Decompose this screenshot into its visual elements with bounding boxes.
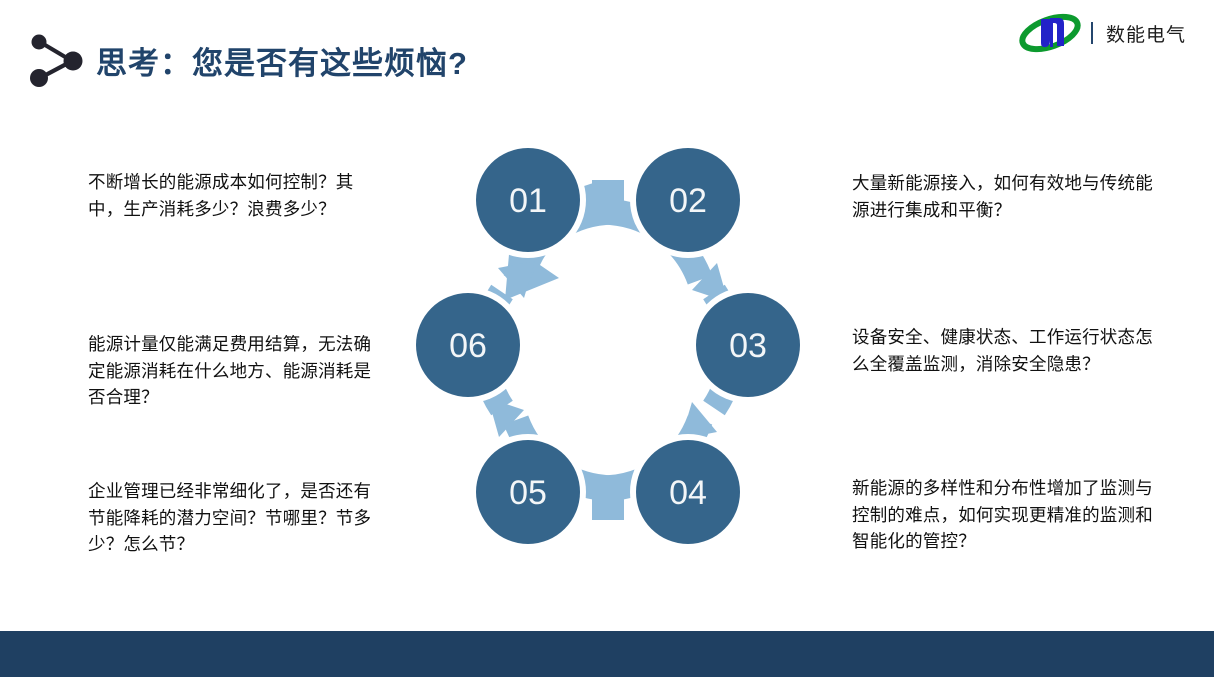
brand-divider (1091, 22, 1093, 44)
brand: 数能电气 (1019, 12, 1186, 54)
page-title: 思考：您是否有这些烦恼? (96, 38, 468, 83)
cycle-node-02-label: 02 (669, 182, 707, 220)
cycle-node-04-label: 04 (669, 474, 707, 512)
callout-02: 大量新能源接入，如何有效地与传统能源进行集成和平衡？ (852, 170, 1157, 223)
cycle-node-05-label: 05 (509, 474, 547, 512)
footer-bar (0, 631, 1214, 677)
callout-01: 不断增长的能源成本如何控制？其中，生产消耗多少？浪费多少？ (88, 169, 388, 222)
cycle-diagram: 01 02 03 04 05 06 (398, 140, 818, 560)
cycle-node-03[interactable]: 03 (696, 293, 800, 397)
cycle-node-01[interactable]: 01 (476, 148, 580, 252)
cycle-node-06[interactable]: 06 (416, 293, 520, 397)
share-nodes-icon (26, 32, 92, 88)
callout-06: 能源计量仅能满足费用结算，无法确定能源消耗在什么地方、能源消耗是否合理？ (88, 331, 388, 411)
slide-header: 思考：您是否有这些烦恼? 数能电气 (0, 0, 1214, 110)
company-logo-icon (1019, 13, 1081, 53)
cycle-node-06-label: 06 (449, 327, 487, 365)
callout-04: 新能源的多样性和分布性增加了监测与控制的难点，如何实现更精准的监测和智能化的管控… (852, 475, 1157, 555)
cycle-node-04[interactable]: 04 (636, 440, 740, 544)
brand-name: 数能电气 (1106, 20, 1186, 47)
callout-03: 设备安全、健康状态、工作运行状态怎么全覆盖监测，消除安全隐患？ (852, 324, 1157, 377)
cycle-node-05[interactable]: 05 (476, 440, 580, 544)
cycle-node-01-label: 01 (509, 182, 547, 220)
callout-05: 企业管理已经非常细化了，是否还有节能降耗的潜力空间？节哪里？节多少？怎么节？ (88, 478, 388, 558)
cycle-node-02[interactable]: 02 (636, 148, 740, 252)
cycle-node-03-label: 03 (729, 327, 767, 365)
